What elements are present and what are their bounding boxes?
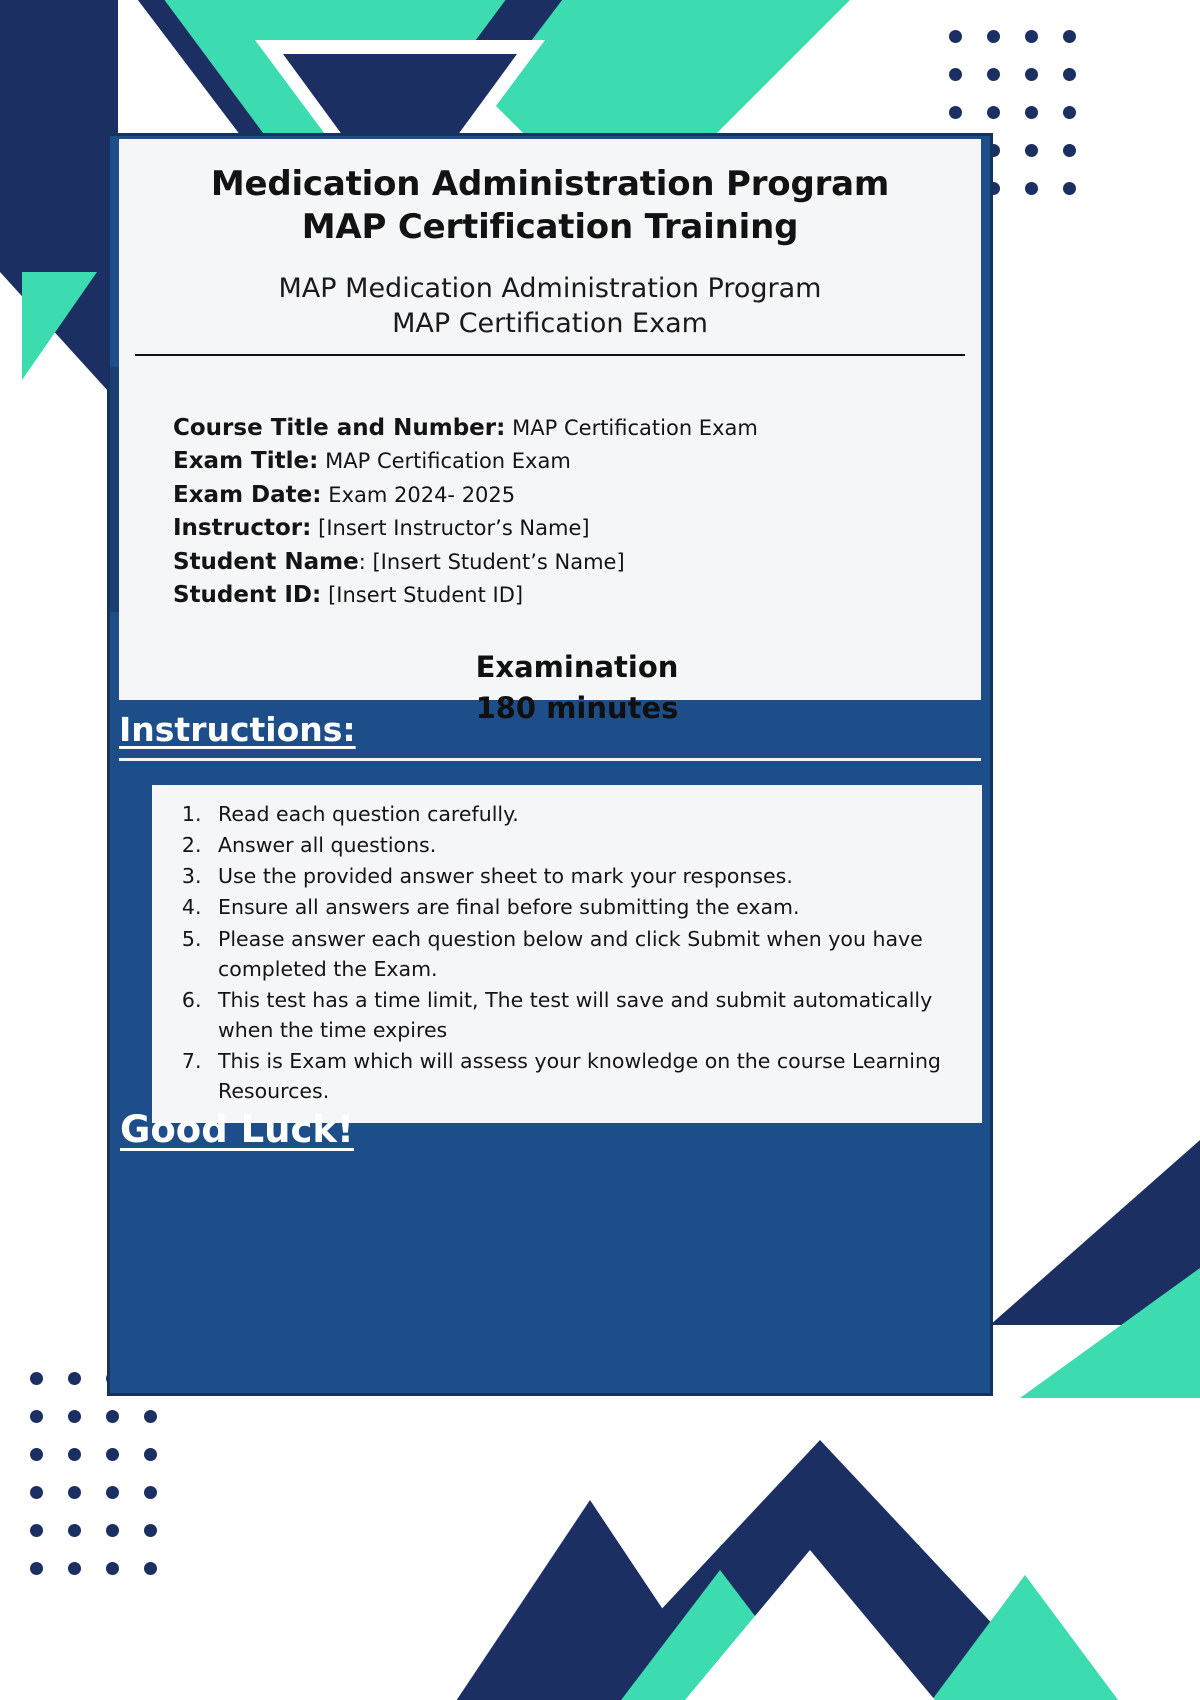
decoration-dot xyxy=(30,1524,43,1537)
instructions-divider xyxy=(119,758,981,761)
exam-date-label: Exam Date: xyxy=(173,482,321,508)
decoration-dot xyxy=(30,1486,43,1499)
instruction-item: This test has a time limit, The test wil… xyxy=(208,985,950,1045)
page-subtitle-line-2: MAP Certification Exam xyxy=(392,308,708,339)
decoration-dot xyxy=(1063,144,1076,157)
decoration-dot xyxy=(1025,68,1038,81)
decoration-dot-grid-bottom-left xyxy=(30,1372,165,1582)
instruction-item: Answer all questions. xyxy=(208,830,950,860)
meta-row-student-name: Student Name: [Insert Student’s Name] xyxy=(173,546,981,580)
decoration-dot xyxy=(30,1410,43,1423)
decoration-dot xyxy=(949,106,962,119)
decoration-bottom-white-notch xyxy=(610,1550,1010,1700)
student-name-label: Student Name xyxy=(173,549,359,575)
instructions-heading: Instructions: xyxy=(119,710,981,749)
decoration-dot xyxy=(1025,144,1038,157)
page-subtitle-line-1: MAP Medication Administration Program xyxy=(279,273,822,304)
decoration-dot xyxy=(1063,182,1076,195)
decoration-dot xyxy=(68,1372,81,1385)
decoration-dot xyxy=(106,1562,119,1575)
meta-row-exam-date: Exam Date: Exam 2024- 2025 xyxy=(173,479,981,513)
instructor-label: Instructor: xyxy=(173,515,311,541)
decoration-dot xyxy=(144,1524,157,1537)
decoration-dot xyxy=(949,30,962,43)
instruction-item: Use the provided answer sheet to mark yo… xyxy=(208,861,950,891)
decoration-top-left-navy-triangle xyxy=(0,272,118,402)
decoration-dot xyxy=(987,106,1000,119)
decoration-dot xyxy=(68,1486,81,1499)
header-panel: Medication Administration Program MAP Ce… xyxy=(119,139,981,700)
student-name-value: : [Insert Student’s Name] xyxy=(359,550,625,574)
decoration-dot xyxy=(30,1562,43,1575)
decoration-right-navy-wedge xyxy=(990,1140,1200,1325)
decoration-dot xyxy=(1025,182,1038,195)
instruction-item: Please answer each question below and cl… xyxy=(208,924,950,984)
decoration-dot xyxy=(1063,68,1076,81)
meta-row-exam-title: Exam Title: MAP Certification Exam xyxy=(173,445,981,479)
decoration-dot xyxy=(144,1562,157,1575)
decoration-dot xyxy=(949,68,962,81)
course-value: MAP Certification Exam xyxy=(512,416,758,440)
exam-title-value: MAP Certification Exam xyxy=(325,449,571,473)
student-id-value: [Insert Student ID] xyxy=(328,583,523,607)
exam-metadata: Course Title and Number: MAP Certificati… xyxy=(119,356,981,730)
decoration-dot xyxy=(144,1448,157,1461)
page-title-line-2: MAP Certification Training xyxy=(302,207,798,247)
decoration-dot xyxy=(144,1410,157,1423)
instruction-item: Read each question carefully. xyxy=(208,799,950,829)
decoration-dot xyxy=(106,1410,119,1423)
meta-row-student-id: Student ID: [Insert Student ID] xyxy=(173,579,981,613)
decoration-right-teal-wedge xyxy=(1020,1268,1200,1398)
course-label: Course Title and Number: xyxy=(173,415,505,441)
decoration-dot xyxy=(987,68,1000,81)
instruction-item: This is Exam which will assess your know… xyxy=(208,1046,950,1106)
decoration-dot xyxy=(1025,106,1038,119)
decoration-dot xyxy=(1025,30,1038,43)
page-title: Medication Administration Program MAP Ce… xyxy=(119,139,981,249)
decoration-bottom-navy-chevron xyxy=(520,1440,1120,1700)
decoration-dot xyxy=(68,1562,81,1575)
good-luck-text: Good Luck! xyxy=(120,1108,354,1151)
meta-row-instructor: Instructor: [Insert Instructor’s Name] xyxy=(173,512,981,546)
instructions-panel: Read each question carefully.Answer all … xyxy=(152,785,982,1123)
decoration-top-left-navy-block xyxy=(0,0,118,272)
decoration-bottom-teal-chevron-right xyxy=(850,1575,1200,1700)
exam-title-label: Exam Title: xyxy=(173,448,318,474)
decoration-dot xyxy=(68,1524,81,1537)
decoration-dot xyxy=(1063,106,1076,119)
decoration-bottom-navy-chevron-left xyxy=(430,1500,750,1700)
instructor-value: [Insert Instructor’s Name] xyxy=(318,516,589,540)
decoration-dot xyxy=(144,1486,157,1499)
decoration-dot xyxy=(106,1486,119,1499)
instructions-list: Read each question carefully.Answer all … xyxy=(152,799,964,1106)
slide-page: Medication Administration Program MAP Ce… xyxy=(0,0,1200,1700)
decoration-dot xyxy=(30,1372,43,1385)
decoration-bottom-teal-chevron xyxy=(545,1570,895,1700)
decoration-bottom-left-white-block xyxy=(0,1580,108,1700)
decoration-dot xyxy=(68,1448,81,1461)
decoration-dot xyxy=(68,1410,81,1423)
decoration-top-left-teal-triangle xyxy=(22,272,97,380)
decoration-dot xyxy=(30,1448,43,1461)
decoration-dot xyxy=(987,30,1000,43)
exam-date-value: Exam 2024- 2025 xyxy=(328,483,515,507)
decoration-dot xyxy=(106,1448,119,1461)
decoration-dot xyxy=(1063,30,1076,43)
instruction-item: Ensure all answers are final before subm… xyxy=(208,892,950,922)
decoration-dot xyxy=(106,1524,119,1537)
student-id-label: Student ID: xyxy=(173,582,321,608)
examination-heading: Examination xyxy=(173,647,981,688)
meta-row-course: Course Title and Number: MAP Certificati… xyxy=(173,412,981,446)
page-subtitle: MAP Medication Administration Program MA… xyxy=(119,249,981,341)
page-title-line-1: Medication Administration Program xyxy=(211,164,889,204)
